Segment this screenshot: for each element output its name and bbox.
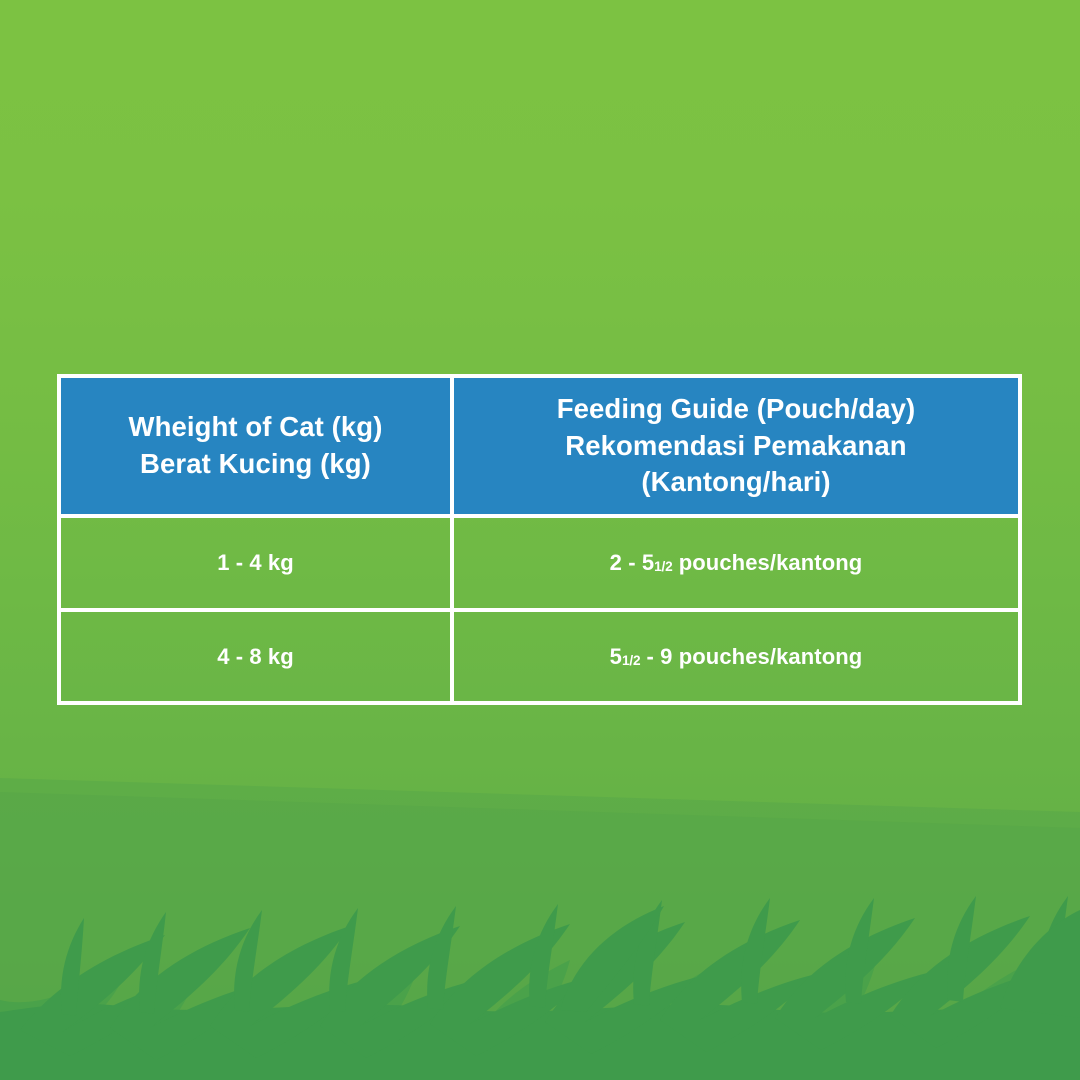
- feeding-value-row-2: 51/2 - 9 pouches/kantong: [610, 643, 863, 672]
- feeding-value-row-1: 2 - 51/2 pouches/kantong: [610, 549, 863, 578]
- cell-weight-row-1: 1 - 4 kg: [61, 518, 454, 608]
- cell-feeding-row-2: 51/2 - 9 pouches/kantong: [454, 612, 1018, 702]
- table-header-row: Wheight of Cat (kg) Berat Kucing (kg) Fe…: [61, 378, 1018, 514]
- cell-feeding-row-1: 2 - 51/2 pouches/kantong: [454, 518, 1018, 608]
- feeding-guide-table: Wheight of Cat (kg) Berat Kucing (kg) Fe…: [57, 374, 1022, 705]
- header-cell-weight: Wheight of Cat (kg) Berat Kucing (kg): [61, 378, 454, 514]
- feeding-fraction-row-1: 1/2: [654, 559, 672, 574]
- table-row: 1 - 4 kg 2 - 51/2 pouches/kantong: [61, 514, 1018, 608]
- header-cell-feeding: Feeding Guide (Pouch/day) Rekomendasi Pe…: [454, 378, 1018, 514]
- feeding-suffix-row-1: pouches/kantong: [673, 550, 863, 575]
- feeding-prefix-row-2: 5: [610, 644, 622, 669]
- feeding-prefix-row-1: 2 - 5: [610, 550, 655, 575]
- cell-weight-row-2: 4 - 8 kg: [61, 612, 454, 702]
- header-label-weight: Wheight of Cat (kg) Berat Kucing (kg): [129, 409, 383, 482]
- table-row: 4 - 8 kg 51/2 - 9 pouches/kantong: [61, 608, 1018, 702]
- poster-canvas: Wheight of Cat (kg) Berat Kucing (kg) Fe…: [0, 0, 1080, 1080]
- weight-value-row-1: 1 - 4 kg: [217, 549, 294, 578]
- feeding-fraction-row-2: 1/2: [622, 653, 640, 668]
- feeding-suffix-row-2: - 9 pouches/kantong: [640, 644, 862, 669]
- header-label-feeding: Feeding Guide (Pouch/day) Rekomendasi Pe…: [557, 391, 916, 501]
- weight-value-row-2: 4 - 8 kg: [217, 643, 294, 672]
